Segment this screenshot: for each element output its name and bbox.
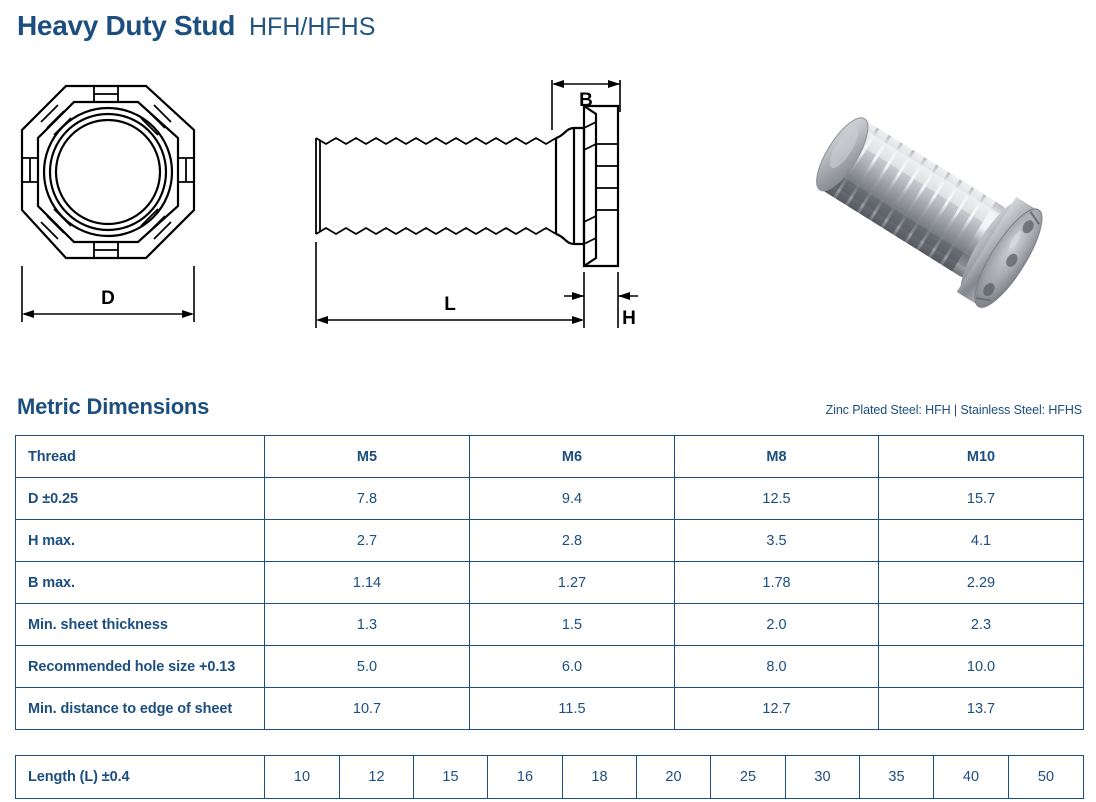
cell-value: 1.5 [470,604,675,646]
cell-value: 13.7 [879,688,1084,730]
column-header-thread: Thread [16,436,265,478]
cell-value: 5.0 [265,646,470,688]
cell-value: 12.5 [675,478,879,520]
table-row: D ±0.25 7.8 9.4 12.5 15.7 [16,478,1084,520]
page-title: Heavy Duty Stud HFH/HFHS [17,10,375,42]
dimension-label-h: H [622,308,636,329]
cell-value: 11.5 [470,688,675,730]
length-value: 10 [265,756,340,799]
section-heading: Metric Dimensions [17,394,209,420]
length-value: 18 [563,756,637,799]
row-label: Recommended hole size +0.13 [16,646,265,688]
table-row: H max. 2.7 2.8 3.5 4.1 [16,520,1084,562]
cell-value: 10.0 [879,646,1084,688]
column-header-m10: M10 [879,436,1084,478]
side-view-drawing: B [288,60,668,350]
cell-value: 1.78 [675,562,879,604]
cell-value: 2.29 [879,562,1084,604]
product-photo [790,78,1090,348]
page-title-subtitle: HFH/HFHS [249,13,375,42]
column-header-m5: M5 [265,436,470,478]
cell-value: 2.7 [265,520,470,562]
datasheet-page: Heavy Duty Stud HFH/HFHS [0,0,1096,802]
length-row: Length (L) ±0.4 10 12 15 16 18 20 25 30 … [16,756,1084,799]
cell-value: 7.8 [265,478,470,520]
cell-value: 2.3 [879,604,1084,646]
row-label: Min. sheet thickness [16,604,265,646]
cell-value: 1.27 [470,562,675,604]
length-row-label: Length (L) ±0.4 [16,756,265,799]
cell-value: 2.0 [675,604,879,646]
page-title-main: Heavy Duty Stud [17,10,235,42]
row-label: H max. [16,520,265,562]
cell-value: 2.8 [470,520,675,562]
top-view-drawing: D [6,70,216,350]
length-value: 12 [340,756,414,799]
row-label: Min. distance to edge of sheet [16,688,265,730]
column-header-m8: M8 [675,436,879,478]
column-header-m6: M6 [470,436,675,478]
table-row: Recommended hole size +0.13 5.0 6.0 8.0 … [16,646,1084,688]
length-table: Length (L) ±0.4 10 12 15 16 18 20 25 30 … [15,755,1084,799]
section-note: Zinc Plated Steel: HFH | Stainless Steel… [826,403,1082,417]
metric-dimensions-table: Thread M5 M6 M8 M10 D ±0.25 7.8 9.4 12.5… [15,435,1084,730]
cell-value: 1.3 [265,604,470,646]
length-value: 16 [488,756,563,799]
table-row: B max. 1.14 1.27 1.78 2.29 [16,562,1084,604]
length-value: 50 [1009,756,1084,799]
cell-value: 8.0 [675,646,879,688]
length-value: 20 [637,756,711,799]
table-row: Min. distance to edge of sheet 10.7 11.5… [16,688,1084,730]
length-value: 30 [786,756,860,799]
cell-value: 9.4 [470,478,675,520]
cell-value: 10.7 [265,688,470,730]
cell-value: 12.7 [675,688,879,730]
length-value: 25 [711,756,786,799]
figures-band: D B [0,60,1096,360]
table-header-row: Thread M5 M6 M8 M10 [16,436,1084,478]
dimension-label-d: D [101,288,115,309]
cell-value: 15.7 [879,478,1084,520]
table-row: Min. sheet thickness 1.3 1.5 2.0 2.3 [16,604,1084,646]
length-value: 15 [414,756,488,799]
row-label: D ±0.25 [16,478,265,520]
row-label: B max. [16,562,265,604]
cell-value: 6.0 [470,646,675,688]
cell-value: 3.5 [675,520,879,562]
cell-value: 4.1 [879,520,1084,562]
dimension-label-l: L [444,294,456,315]
cell-value: 1.14 [265,562,470,604]
length-value: 40 [934,756,1009,799]
length-value: 35 [860,756,934,799]
